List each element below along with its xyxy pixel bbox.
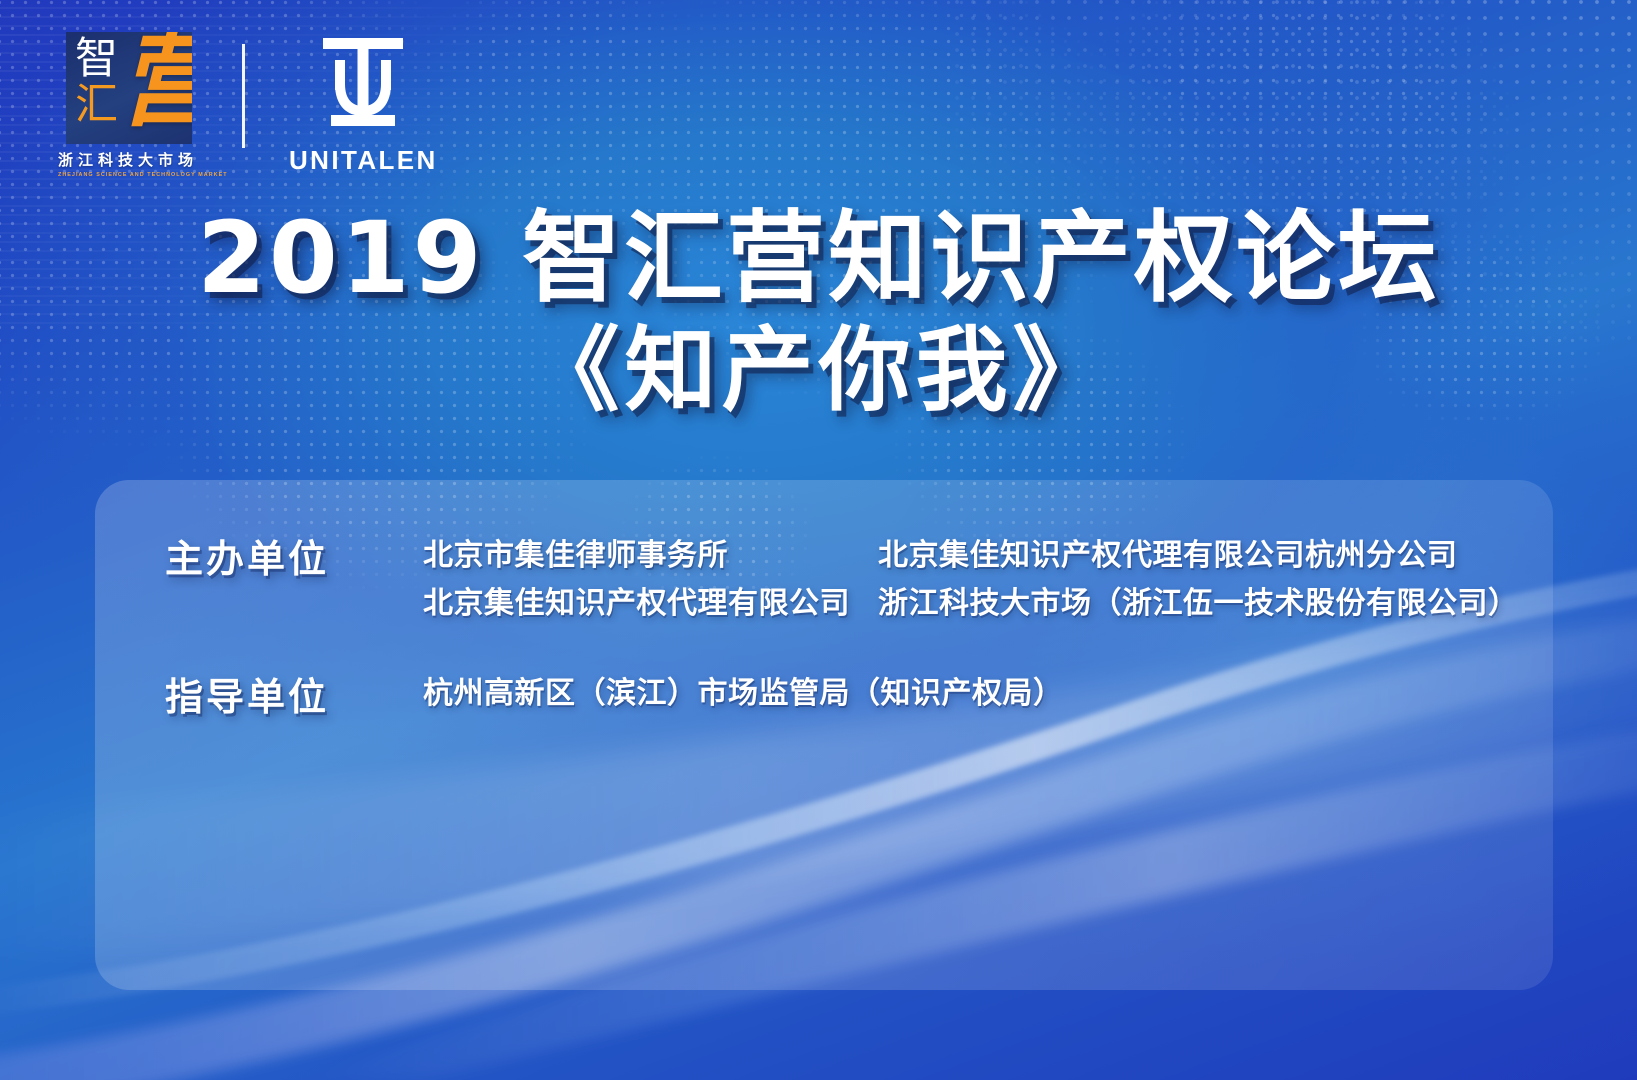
guide-label: 指导单位 [165, 676, 423, 720]
market-name-en: ZHEJIANG SCIENCE AND TECHNOLOGY MARKET [58, 172, 198, 178]
host-columns: 北京市集佳律师事务所 北京集佳知识产权代理有限公司 北京集佳知识产权代理有限公司… [423, 538, 1523, 622]
organization-name: 北京集佳知识产权代理有限公司杭州分公司 [878, 538, 1523, 574]
forum-subtitle: 《知产你我》 [0, 319, 1637, 422]
zhi-character: 智 [75, 38, 118, 81]
unitalen-logo-mark [315, 32, 411, 136]
unitalen-logo: UNITALEN [289, 32, 438, 176]
market-name-cn: 浙江科技大市场 [58, 149, 198, 170]
guide-columns: 杭州高新区（滨江）市场监管局（知识产权局） [423, 676, 1523, 712]
organizer-rows: 主办单位 北京市集佳律师事务所 北京集佳知识产权代理有限公司 北京集佳知识产权代… [165, 538, 1523, 720]
organization-name: 杭州高新区（滨江）市场监管局（知识产权局） [423, 676, 1064, 712]
forum-title: 2019 智汇营知识产权论坛 [0, 206, 1637, 313]
organization-name: 北京市集佳律师事务所 [423, 538, 878, 574]
logo-divider [242, 44, 245, 148]
logo-bar: 智 汇 营 浙江科技大市场 ZHEJIANG SCIENCE AND TECHN… [58, 32, 438, 178]
zhihuiying-logo-mark: 智 汇 营 [66, 32, 192, 144]
host-label: 主办单位 [165, 538, 423, 582]
guide-left-column: 杭州高新区（滨江）市场监管局（知识产权局） [423, 676, 1064, 712]
zhihuiying-logo: 智 汇 营 浙江科技大市场 ZHEJIANG SCIENCE AND TECHN… [58, 32, 198, 178]
organization-name: 浙江科技大市场（浙江伍一技术股份有限公司） [878, 586, 1523, 622]
hui-character: 汇 [75, 84, 118, 127]
title-block: 2019 智汇营知识产权论坛 《知产你我》 [0, 206, 1637, 422]
host-right-column: 北京集佳知识产权代理有限公司杭州分公司 浙江科技大市场（浙江伍一技术股份有限公司… [878, 538, 1523, 622]
organizer-row-guide: 指导单位 杭州高新区（滨江）市场监管局（知识产权局） [165, 676, 1523, 720]
organizer-info-panel: 主办单位 北京市集佳律师事务所 北京集佳知识产权代理有限公司 北京集佳知识产权代… [95, 480, 1553, 990]
unitalen-wordmark: UNITALEN [289, 145, 438, 176]
organizer-row-host: 主办单位 北京市集佳律师事务所 北京集佳知识产权代理有限公司 北京集佳知识产权代… [165, 538, 1523, 622]
host-left-column: 北京市集佳律师事务所 北京集佳知识产权代理有限公司 [423, 538, 878, 622]
ying-character: 营 [118, 32, 192, 132]
organization-name: 北京集佳知识产权代理有限公司 [423, 586, 878, 622]
